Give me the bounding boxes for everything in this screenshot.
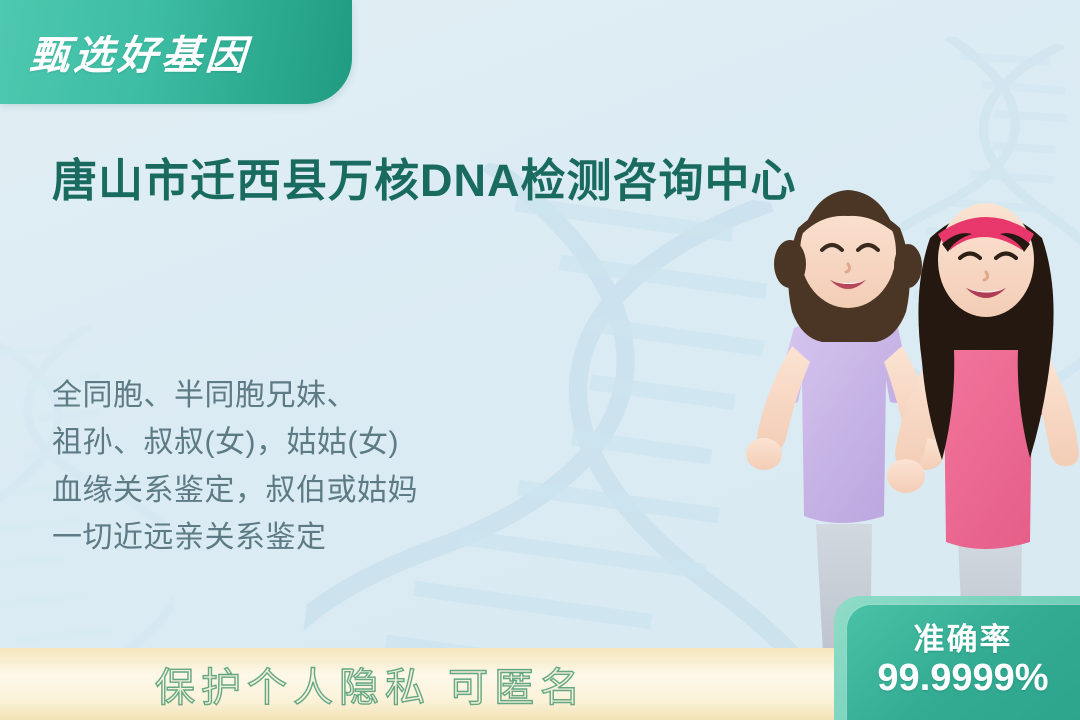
service-line-1: 全同胞、半同胞兄妹、 (52, 372, 572, 419)
accuracy-badge-panel: 准确率 99.9999% (846, 604, 1080, 720)
page-title: 唐山市迁西县万核DNA检测咨询中心 (52, 152, 822, 210)
poster-canvas: 甄选好基因 唐山市迁西县万核DNA检测咨询中心 全同胞、半同胞兄妹、 祖孙、叔叔… (0, 0, 1080, 720)
photo-two-smiling-girls (720, 132, 1080, 672)
accuracy-badge: 准确率 99.9999% (818, 596, 1080, 720)
brand-badge-text: 甄选好基因 (28, 23, 252, 81)
service-line-3: 血缘关系鉴定，叔伯或姑妈 (52, 467, 572, 514)
service-line-4: 一切近远亲关系鉴定 (52, 514, 572, 561)
service-line-2: 祖孙、叔叔(女)，姑姑(女) (52, 419, 572, 466)
privacy-banner-text: 保护个人隐私 可匿名 (155, 655, 586, 713)
accuracy-badge-value: 99.9999% (877, 658, 1048, 700)
service-description: 全同胞、半同胞兄妹、 祖孙、叔叔(女)，姑姑(女) 血缘关系鉴定，叔伯或姑妈 一… (52, 372, 572, 562)
accuracy-badge-label: 准确率 (914, 624, 1013, 657)
brand-banner: 甄选好基因 (0, 0, 352, 104)
